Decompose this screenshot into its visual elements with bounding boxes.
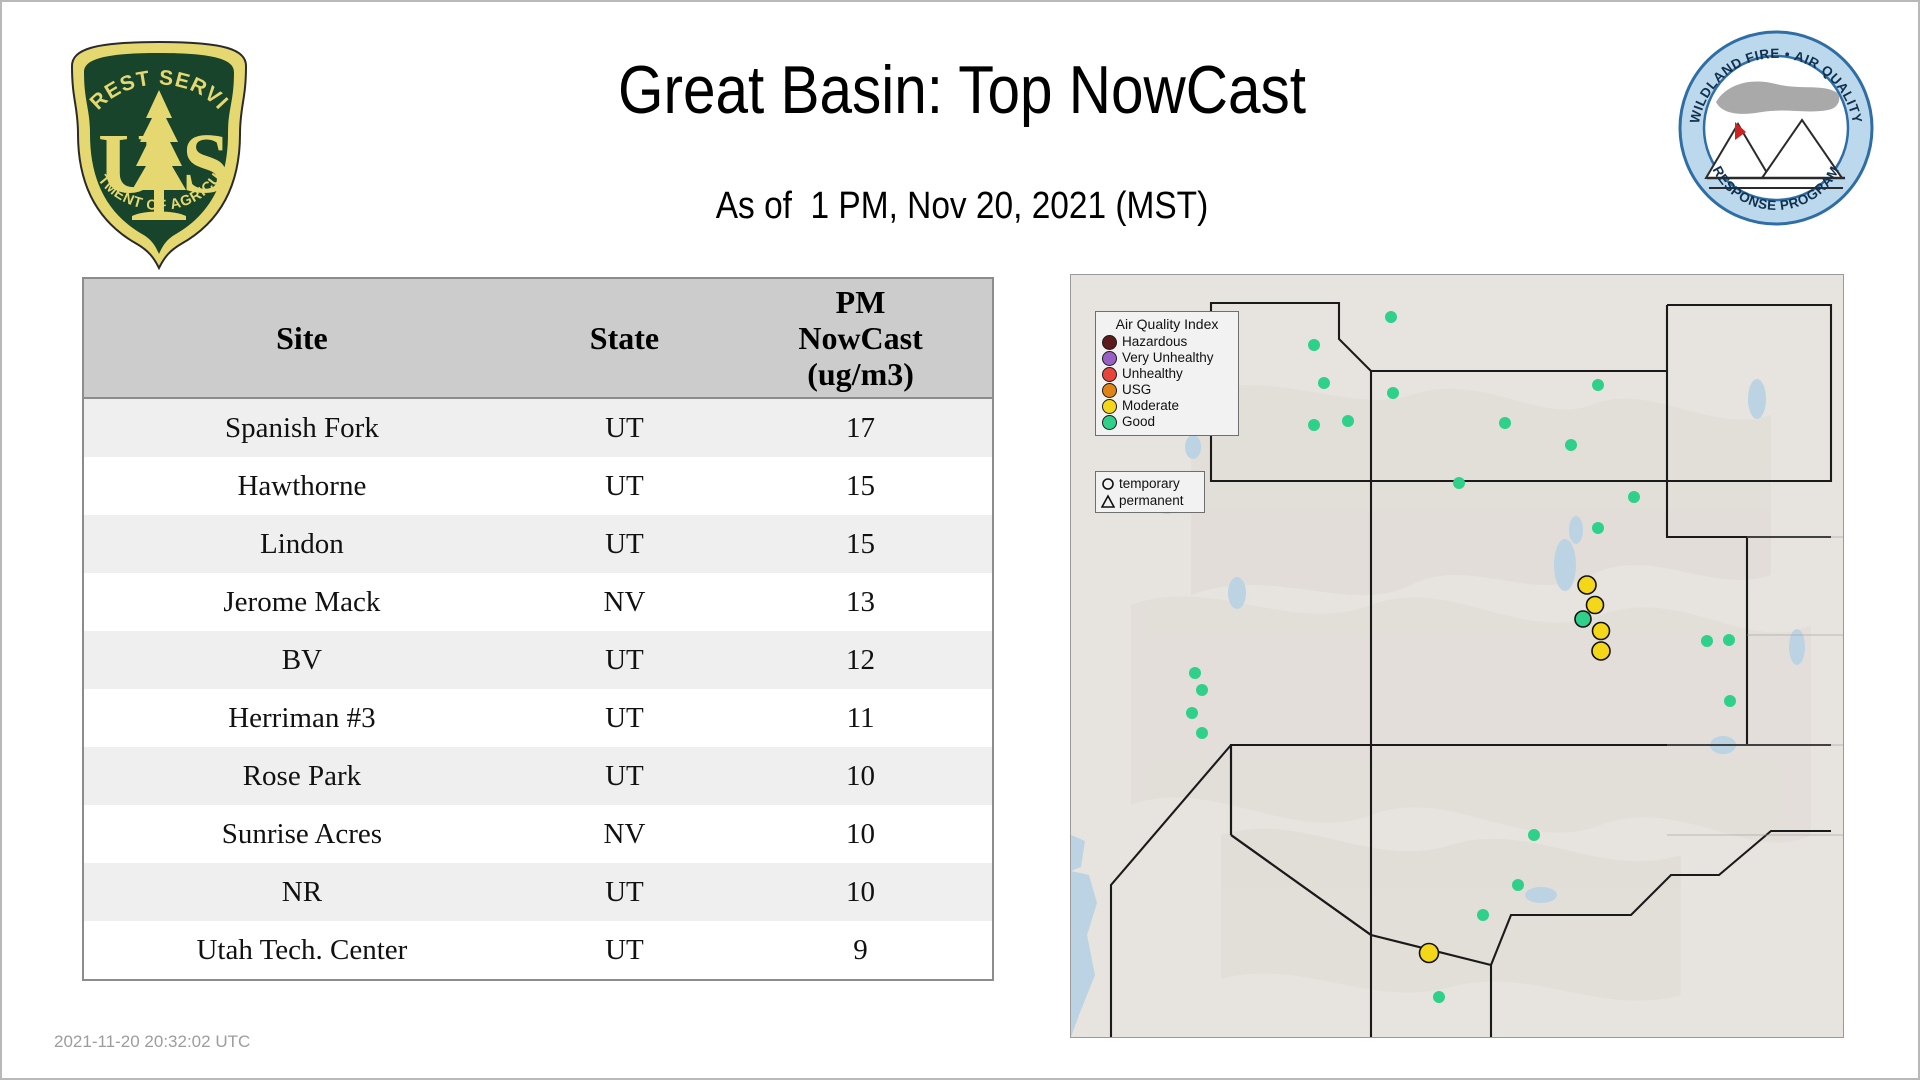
cell-pm-nowcast: 9 bbox=[729, 921, 993, 980]
cell-site: Hawthorne bbox=[83, 457, 520, 515]
cell-state: UT bbox=[520, 631, 729, 689]
table-header: Site State PM NowCast (ug/m3) bbox=[83, 278, 993, 398]
aqi-legend-item: Hazardous bbox=[1102, 334, 1232, 350]
cell-site: BV bbox=[83, 631, 520, 689]
cell-state: NV bbox=[520, 805, 729, 863]
cell-site: Spanish Fork bbox=[83, 398, 520, 457]
monitor-marker[interactable] bbox=[1420, 944, 1439, 963]
great-basin-map[interactable]: Air Quality Index HazardousVery Unhealth… bbox=[1070, 274, 1844, 1038]
aqi-legend-title: Air Quality Index bbox=[1102, 316, 1232, 332]
aqi-legend-rows: HazardousVery UnhealthyUnhealthyUSGModer… bbox=[1102, 334, 1232, 430]
monitor-marker[interactable] bbox=[1701, 635, 1713, 647]
cell-pm-nowcast: 13 bbox=[729, 573, 993, 631]
cell-state: UT bbox=[520, 398, 729, 457]
table-header-row: Site State PM NowCast (ug/m3) bbox=[83, 278, 993, 398]
cell-pm-nowcast: 10 bbox=[729, 747, 993, 805]
table-body: Spanish ForkUT17HawthorneUT15LindonUT15J… bbox=[83, 398, 993, 980]
monitor-marker[interactable] bbox=[1724, 695, 1736, 707]
aqi-legend: Air Quality Index HazardousVery Unhealth… bbox=[1095, 311, 1239, 436]
aqi-legend-item: Unhealthy bbox=[1102, 366, 1232, 382]
page-subtitle: As of 1 PM, Nov 20, 2021 (MST) bbox=[487, 185, 1437, 227]
monitor-marker[interactable] bbox=[1499, 417, 1511, 429]
cell-site: Herriman #3 bbox=[83, 689, 520, 747]
monitor-marker[interactable] bbox=[1196, 684, 1208, 696]
usfs-letter-s: S bbox=[182, 115, 230, 211]
monitor-marker[interactable] bbox=[1723, 634, 1735, 646]
cell-site: Sunrise Acres bbox=[83, 805, 520, 863]
monitor-marker[interactable] bbox=[1387, 387, 1399, 399]
table-row: Herriman #3UT11 bbox=[83, 689, 993, 747]
column-header-site: Site bbox=[83, 278, 520, 398]
cell-state: UT bbox=[520, 515, 729, 573]
nowcast-table: Site State PM NowCast (ug/m3) Spanish Fo… bbox=[82, 277, 994, 981]
cell-state: UT bbox=[520, 863, 729, 921]
monitor-marker[interactable] bbox=[1308, 339, 1320, 351]
aqi-color-swatch-icon bbox=[1102, 415, 1117, 430]
aqi-color-swatch-icon bbox=[1102, 399, 1117, 414]
monitor-marker[interactable] bbox=[1189, 667, 1201, 679]
aqi-legend-label: Very Unhealthy bbox=[1122, 350, 1214, 366]
aqi-legend-item: Moderate bbox=[1102, 398, 1232, 414]
cell-pm-nowcast: 11 bbox=[729, 689, 993, 747]
table-row: Utah Tech. CenterUT9 bbox=[83, 921, 993, 980]
cell-site: Utah Tech. Center bbox=[83, 921, 520, 980]
aqi-legend-label: Good bbox=[1122, 414, 1155, 430]
table-row: NRUT10 bbox=[83, 863, 993, 921]
cell-state: UT bbox=[520, 457, 729, 515]
table-row: HawthorneUT15 bbox=[83, 457, 993, 515]
cell-pm-nowcast: 17 bbox=[729, 398, 993, 457]
monitor-marker[interactable] bbox=[1592, 642, 1610, 660]
table-row: LindonUT15 bbox=[83, 515, 993, 573]
monitor-marker[interactable] bbox=[1342, 415, 1354, 427]
cell-pm-nowcast: 12 bbox=[729, 631, 993, 689]
cell-pm-nowcast: 10 bbox=[729, 805, 993, 863]
column-header-pm-nowcast: PM NowCast (ug/m3) bbox=[729, 278, 993, 398]
site-type-legend: temporary permanent bbox=[1095, 471, 1205, 513]
table-row: Rose ParkUT10 bbox=[83, 747, 993, 805]
aqi-legend-item: Good bbox=[1102, 414, 1232, 430]
aqi-color-swatch-icon bbox=[1102, 367, 1117, 382]
table-row: Jerome MackNV13 bbox=[83, 573, 993, 631]
aqi-color-swatch-icon bbox=[1102, 335, 1117, 350]
cell-state: UT bbox=[520, 747, 729, 805]
table-row: Spanish ForkUT17 bbox=[83, 398, 993, 457]
generated-timestamp: 2021-11-20 20:32:02 UTC bbox=[54, 1032, 250, 1052]
monitor-marker[interactable] bbox=[1308, 419, 1320, 431]
cell-site: Rose Park bbox=[83, 747, 520, 805]
cell-state: NV bbox=[520, 573, 729, 631]
monitor-marker[interactable] bbox=[1196, 727, 1208, 739]
cell-pm-nowcast: 15 bbox=[729, 457, 993, 515]
aqi-legend-label: Hazardous bbox=[1122, 334, 1187, 350]
monitor-marker[interactable] bbox=[1628, 491, 1640, 503]
cell-site: Lindon bbox=[83, 515, 520, 573]
page-title: Great Basin: Top NowCast bbox=[498, 54, 1427, 126]
column-header-pm-line2: NowCast bbox=[729, 320, 992, 356]
monitor-marker[interactable] bbox=[1587, 597, 1604, 614]
aqi-legend-item: USG bbox=[1102, 382, 1232, 398]
aqi-color-swatch-icon bbox=[1102, 383, 1117, 398]
aqi-legend-item: Very Unhealthy bbox=[1102, 350, 1232, 366]
monitor-marker[interactable] bbox=[1593, 623, 1610, 640]
monitor-marker[interactable] bbox=[1477, 909, 1489, 921]
table-row: BVUT12 bbox=[83, 631, 993, 689]
cell-state: UT bbox=[520, 689, 729, 747]
slide-canvas: FOREST SERVICE DEPARTMENT OF AGRICULTURE… bbox=[0, 0, 1920, 1080]
monitor-marker[interactable] bbox=[1318, 377, 1330, 389]
wfaqrp-logo: WILDLAND FIRE • AIR QUALITY RESPONSE PRO… bbox=[1676, 28, 1876, 228]
monitor-marker[interactable] bbox=[1528, 829, 1540, 841]
column-header-pm-line1: PM bbox=[729, 284, 992, 320]
aqi-legend-label: Unhealthy bbox=[1122, 366, 1183, 382]
aqi-color-swatch-icon bbox=[1102, 351, 1117, 366]
monitor-marker[interactable] bbox=[1433, 991, 1445, 1003]
aqi-legend-label: USG bbox=[1122, 382, 1151, 398]
aqi-legend-label: Moderate bbox=[1122, 398, 1179, 414]
site-type-temporary: temporary bbox=[1101, 475, 1199, 492]
cell-site: NR bbox=[83, 863, 520, 921]
circle-marker-icon bbox=[1101, 476, 1115, 492]
site-type-permanent: permanent bbox=[1101, 492, 1199, 509]
cell-site: Jerome Mack bbox=[83, 573, 520, 631]
triangle-marker-icon bbox=[1101, 493, 1115, 509]
monitor-marker[interactable] bbox=[1385, 311, 1397, 323]
table-row: Sunrise AcresNV10 bbox=[83, 805, 993, 863]
monitor-marker[interactable] bbox=[1186, 707, 1198, 719]
monitor-marker[interactable] bbox=[1592, 522, 1604, 534]
column-header-state: State bbox=[520, 278, 729, 398]
column-header-pm-line3: (ug/m3) bbox=[729, 356, 992, 392]
monitor-marker[interactable] bbox=[1575, 611, 1591, 627]
monitor-marker[interactable] bbox=[1512, 879, 1524, 891]
site-type-temporary-label: temporary bbox=[1119, 475, 1180, 492]
monitor-marker[interactable] bbox=[1592, 379, 1604, 391]
usfs-logo: FOREST SERVICE DEPARTMENT OF AGRICULTURE… bbox=[54, 30, 264, 270]
monitor-marker[interactable] bbox=[1565, 439, 1577, 451]
cell-state: UT bbox=[520, 921, 729, 980]
site-type-permanent-label: permanent bbox=[1119, 492, 1184, 509]
monitor-marker[interactable] bbox=[1578, 576, 1596, 594]
cell-pm-nowcast: 15 bbox=[729, 515, 993, 573]
monitor-marker[interactable] bbox=[1453, 477, 1465, 489]
cell-pm-nowcast: 10 bbox=[729, 863, 993, 921]
